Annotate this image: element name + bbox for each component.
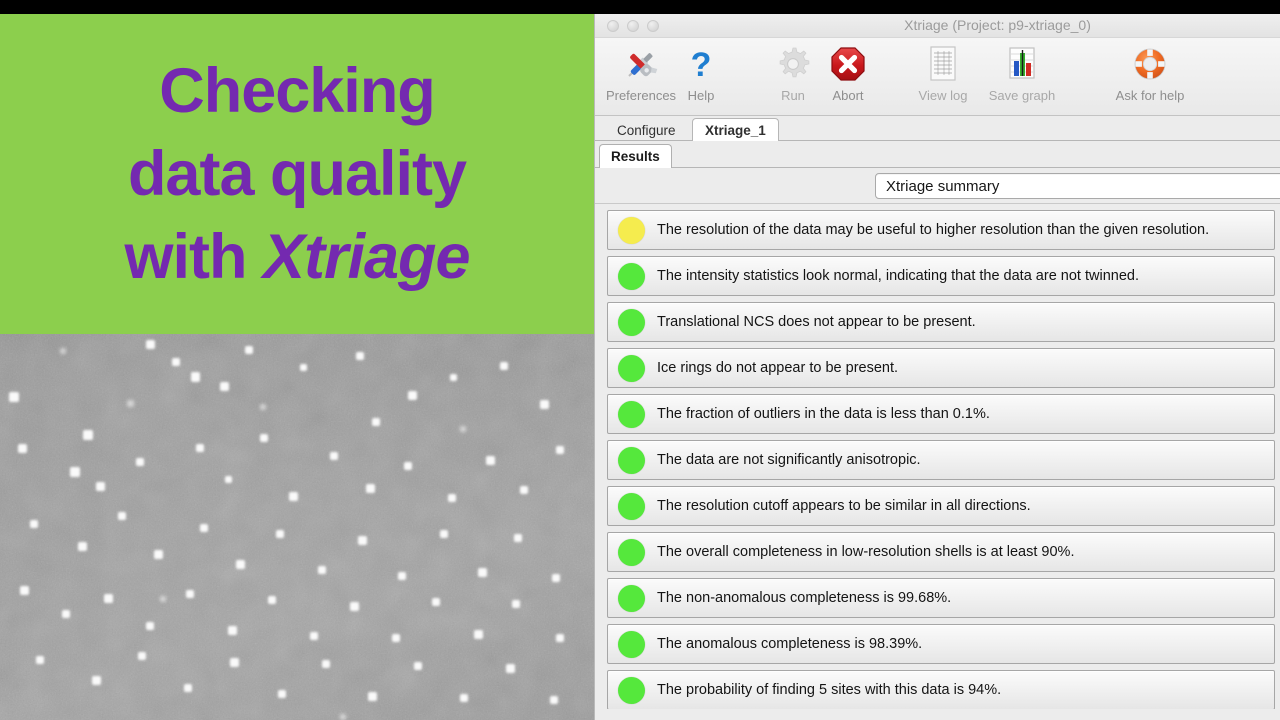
ask-for-help-button[interactable]: Ask for help	[1100, 42, 1200, 103]
result-row-text: The fraction of outliers in the data is …	[657, 406, 990, 422]
status-ok-icon	[618, 631, 645, 658]
result-row-text: The resolution cutoff appears to be simi…	[657, 498, 1031, 514]
svg-text:?: ?	[691, 46, 712, 84]
result-row[interactable]: The resolution of the data may be useful…	[607, 210, 1275, 250]
result-row[interactable]: The overall completeness in low-resoluti…	[607, 532, 1275, 572]
slide-title-card: Checking data quality with Xtriage	[0, 14, 594, 334]
result-row-text: The non-anomalous completeness is 99.68%…	[657, 590, 951, 606]
abort-label: Abort	[817, 88, 879, 103]
result-row-text: The probability of finding 5 sites with …	[657, 682, 1001, 698]
document-lines-icon	[905, 42, 981, 86]
slide-panel: Checking data quality with Xtriage	[0, 14, 594, 720]
result-row-text: The data are not significantly anisotrop…	[657, 452, 921, 468]
tab-configure[interactable]: Configure	[605, 119, 688, 143]
xtriage-summary-dropdown[interactable]: Xtriage summary	[875, 173, 1280, 199]
save-graph-button[interactable]: Save graph	[977, 42, 1067, 103]
preferences-label: Preferences	[598, 88, 684, 103]
letterbox-top	[0, 0, 1280, 14]
result-row-text: Translational NCS does not appear to be …	[657, 314, 976, 330]
status-ok-icon	[618, 309, 645, 336]
result-row[interactable]: The probability of finding 5 sites with …	[607, 670, 1275, 709]
results-list: The resolution of the data may be useful…	[595, 204, 1280, 709]
screenshot-root: Checking data quality with Xtriage	[0, 0, 1280, 720]
diffraction-pattern-image	[0, 334, 594, 720]
result-row[interactable]: The non-anomalous completeness is 99.68%…	[607, 578, 1275, 618]
tools-icon	[598, 42, 684, 86]
window-titlebar[interactable]: Xtriage (Project: p9-xtriage_0)	[595, 14, 1280, 38]
result-row-text: Ice rings do not appear to be present.	[657, 360, 898, 376]
toolbar: Preferences ? Help	[595, 38, 1280, 116]
status-ok-icon	[618, 539, 645, 566]
preferences-button[interactable]: Preferences	[598, 42, 684, 103]
stop-octagon-icon	[817, 42, 879, 86]
lifesaver-icon	[1100, 42, 1200, 86]
run-button[interactable]: Run	[765, 42, 821, 103]
gear-icon	[765, 42, 821, 86]
status-ok-icon	[618, 585, 645, 612]
status-ok-icon	[618, 493, 645, 520]
result-row[interactable]: The data are not significantly anisotrop…	[607, 440, 1275, 480]
save-graph-label: Save graph	[977, 88, 1067, 103]
abort-button[interactable]: Abort	[817, 42, 879, 103]
result-row[interactable]: The resolution cutoff appears to be simi…	[607, 486, 1275, 526]
result-row-text: The anomalous completeness is 98.39%.	[657, 636, 922, 652]
slide-title-line-1: Checking	[159, 60, 435, 123]
primary-tab-bar: Configure Xtriage_1	[595, 116, 1280, 141]
slide-title-xtriage: Xtriage	[263, 222, 470, 292]
run-label: Run	[765, 88, 821, 103]
help-button[interactable]: ? Help	[673, 42, 729, 103]
result-row-text: The intensity statistics look normal, in…	[657, 268, 1139, 284]
result-row[interactable]: The intensity statistics look normal, in…	[607, 256, 1275, 296]
result-row-text: The overall completeness in low-resoluti…	[657, 544, 1074, 560]
ask-for-help-label: Ask for help	[1100, 88, 1200, 103]
view-log-label: View log	[905, 88, 981, 103]
summary-selector-bar: Xtriage summary	[595, 168, 1280, 204]
view-log-button[interactable]: View log	[905, 42, 981, 103]
tab-results[interactable]: Results	[599, 144, 672, 171]
status-ok-icon	[618, 263, 645, 290]
secondary-tab-bar: Results	[595, 141, 1280, 168]
status-ok-icon	[618, 677, 645, 704]
bar-chart-icon	[977, 42, 1067, 86]
slide-title-line-3: with Xtriage	[124, 226, 469, 289]
result-row[interactable]: Ice rings do not appear to be present.	[607, 348, 1275, 388]
status-ok-icon	[618, 447, 645, 474]
result-row[interactable]: The anomalous completeness is 98.39%.	[607, 624, 1275, 664]
result-row-text: The resolution of the data may be useful…	[657, 222, 1209, 238]
slide-title-line-2: data quality	[128, 143, 466, 206]
status-ok-icon	[618, 401, 645, 428]
help-label: Help	[673, 88, 729, 103]
status-ok-icon	[618, 355, 645, 382]
result-row[interactable]: Translational NCS does not appear to be …	[607, 302, 1275, 342]
xtriage-summary-value: Xtriage summary	[886, 178, 999, 195]
question-mark-icon: ?	[673, 42, 729, 86]
status-warning-icon	[618, 217, 645, 244]
xtriage-window: Xtriage (Project: p9-xtriage_0)	[594, 14, 1280, 720]
diffraction-spots	[0, 334, 594, 720]
result-row[interactable]: The fraction of outliers in the data is …	[607, 394, 1275, 434]
slide-title-with: with	[124, 222, 262, 292]
window-title: Xtriage (Project: p9-xtriage_0)	[595, 17, 1280, 33]
